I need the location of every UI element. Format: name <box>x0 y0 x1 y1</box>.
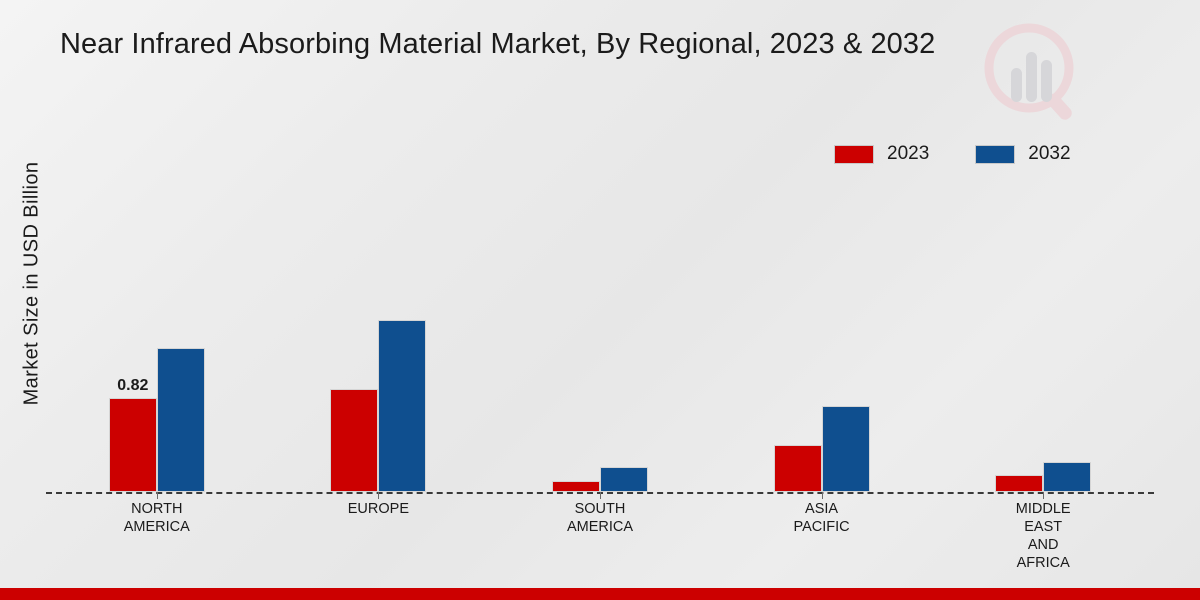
bar-2032[interactable] <box>1043 462 1091 492</box>
bar-2032[interactable] <box>600 467 648 492</box>
category-line: EAST <box>1016 518 1071 536</box>
bar-pair <box>774 170 870 492</box>
bar-wrapper <box>600 467 648 492</box>
x-axis-category-label: NORTHAMERICA <box>124 500 190 536</box>
bar-wrapper: 0.82 <box>109 398 157 492</box>
x-axis-category-label: EUROPE <box>348 500 409 518</box>
bar-wrapper <box>552 481 600 493</box>
bar-wrapper <box>378 320 426 493</box>
bar-2023[interactable] <box>330 389 378 493</box>
legend-item-2032[interactable]: 2032 <box>975 143 1070 165</box>
legend-item-2023[interactable]: 2023 <box>834 143 929 165</box>
category-line: MIDDLE <box>1016 500 1071 518</box>
bar-wrapper <box>330 389 378 493</box>
bar-2023[interactable] <box>109 398 157 492</box>
category-line: SOUTH <box>567 500 633 518</box>
footer-strip <box>0 588 1200 600</box>
legend-label: 2032 <box>1028 143 1070 165</box>
category-line: AMERICA <box>567 518 633 536</box>
bar-pair <box>330 170 426 492</box>
category-line: ASIA <box>794 500 850 518</box>
chart-container: Near Infrared Absorbing Material Market,… <box>0 0 1200 600</box>
bar-pair: 0.82 <box>109 170 205 492</box>
x-axis-category-label: SOUTHAMERICA <box>567 500 633 536</box>
bar-group: SOUTHAMERICA <box>489 170 711 492</box>
bar-2032[interactable] <box>157 348 205 492</box>
bar-pair <box>995 170 1091 492</box>
category-line: EUROPE <box>348 500 409 518</box>
bar-groups: 0.82NORTHAMERICAEUROPESOUTHAMERICAASIAPA… <box>46 170 1154 492</box>
category-line: NORTH <box>124 500 190 518</box>
bar-2032[interactable] <box>378 320 426 493</box>
category-line: AFRICA <box>1016 554 1071 572</box>
category-line: PACIFIC <box>794 518 850 536</box>
y-axis-title: Market Size in USD Billion <box>21 84 44 484</box>
x-axis-tick <box>822 492 823 499</box>
x-axis-tick <box>157 492 158 499</box>
chart-legend: 2023 2032 <box>834 143 1071 165</box>
bar-wrapper <box>995 475 1043 492</box>
x-axis-category-label: MIDDLEEASTANDAFRICA <box>1016 500 1071 572</box>
bar-2032[interactable] <box>822 406 870 492</box>
plot-area: 0.82NORTHAMERICAEUROPESOUTHAMERICAASIAPA… <box>46 170 1154 492</box>
category-line: AND <box>1016 536 1071 554</box>
category-line: AMERICA <box>124 518 190 536</box>
bar-2023[interactable] <box>774 445 822 492</box>
legend-swatch-icon <box>975 145 1015 164</box>
legend-swatch-icon <box>834 145 874 164</box>
x-axis-category-label: ASIAPACIFIC <box>794 500 850 536</box>
bar-value-label: 0.82 <box>117 377 148 395</box>
chart-title: Near Infrared Absorbing Material Market,… <box>60 28 1120 61</box>
x-axis-tick <box>378 492 379 499</box>
bar-wrapper <box>1043 462 1091 492</box>
x-axis-tick <box>600 492 601 499</box>
bar-pair <box>552 170 648 492</box>
bar-2023[interactable] <box>552 481 600 493</box>
legend-label: 2023 <box>887 143 929 165</box>
bar-wrapper <box>822 406 870 492</box>
bar-2023[interactable] <box>995 475 1043 492</box>
bar-wrapper <box>774 445 822 492</box>
x-axis-tick <box>1043 492 1044 499</box>
bar-group: 0.82NORTHAMERICA <box>46 170 268 492</box>
bar-group: EUROPE <box>268 170 490 492</box>
bar-group: ASIAPACIFIC <box>711 170 933 492</box>
bar-group: MIDDLEEASTANDAFRICA <box>932 170 1154 492</box>
bar-wrapper <box>157 348 205 492</box>
